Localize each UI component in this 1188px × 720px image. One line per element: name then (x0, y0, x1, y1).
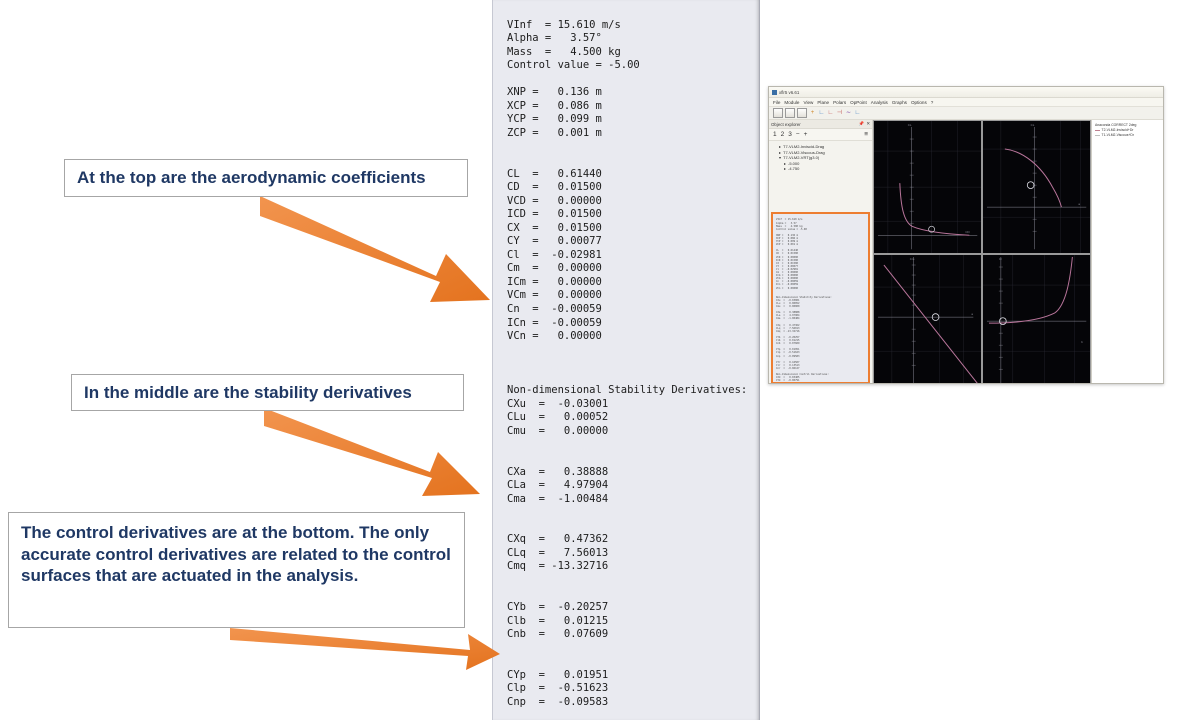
callout-text: The control derivatives are at the botto… (9, 513, 464, 587)
legend-item-label: T1-VLM2-Viscous+Dr (1102, 133, 1134, 138)
menu-item-file[interactable]: File (773, 100, 780, 105)
collapse-all-icon[interactable]: − (796, 131, 800, 138)
svg-text:a: a (971, 312, 973, 316)
window-body: Object explorer 📌 ✕ 1 2 3 − + ≡ ▸ T7-VLM… (769, 120, 1163, 384)
graph-bottom-right[interactable]: b Cl (983, 255, 1090, 384)
menu-item-polars[interactable]: Polars (833, 100, 846, 105)
polar-curve-icon[interactable]: ∟ (818, 109, 825, 117)
analysis-log-panel: VInf = 15.610 m/s Alpha = 3.57° Mass = 4… (492, 0, 760, 720)
chevron-down-icon: ▾ (779, 155, 781, 161)
callout-aerodynamic-coefficients: At the top are the aerodynamic coefficie… (64, 159, 468, 197)
menu-item-options[interactable]: Options (911, 100, 927, 105)
analysis-log-thumbnail-text: VInf = 15.610 m/s Alpha = 3.57 Mass = 4.… (773, 216, 868, 384)
legend-panel: Anaconda CORRECT 2deg T2-VLM2-Inviscid+D… (1091, 120, 1163, 384)
graph-settings-icon[interactable]: ∟ (854, 109, 861, 117)
object-explorer-header: Object explorer 📌 ✕ (769, 120, 872, 129)
graph-grid: CD CL (873, 120, 1091, 384)
object-explorer-panel[interactable]: Object explorer 📌 ✕ 1 2 3 − + ≡ ▸ T7-VLM… (769, 120, 873, 384)
arrow-to-stability-derivatives (262, 404, 492, 504)
svg-text:b: b (1081, 340, 1083, 344)
window-title: xflr5 v6.61 (779, 90, 799, 95)
graph-area: CD CL (873, 120, 1163, 384)
svg-text:a: a (1078, 202, 1080, 206)
define-analysis-icon[interactable]: + (809, 109, 816, 117)
callout-control-derivatives: The control derivatives are at the botto… (8, 512, 465, 628)
chevron-right-icon: ▸ (784, 166, 786, 172)
menu-item-help[interactable]: ? (931, 100, 934, 105)
window-titlebar: xflr5 v6.61 (769, 87, 1163, 98)
svg-text:Cm: Cm (910, 257, 915, 261)
analysis-log-text: VInf = 15.610 m/s Alpha = 3.57° Mass = 4… (507, 19, 747, 720)
new-file-icon[interactable] (773, 108, 783, 118)
save-file-icon[interactable] (797, 108, 807, 118)
callout-text: In the middle are the stability derivati… (72, 383, 412, 403)
legend-swatch-icon (1095, 135, 1100, 136)
expand-level-2-button[interactable]: 2 (781, 131, 785, 138)
tree-item-label: -4.750 (788, 166, 799, 172)
xflr5-application-window[interactable]: xflr5 v6.61 File Module View Plane Polar… (768, 86, 1164, 384)
svg-text:CD: CD (965, 230, 970, 234)
close-icon[interactable]: ✕ (866, 121, 870, 127)
expand-all-icon[interactable]: + (804, 131, 808, 138)
callout-text: At the top are the aerodynamic coefficie… (65, 168, 426, 188)
svg-text:Cl: Cl (999, 257, 1002, 261)
run-analysis-icon[interactable]: ∟ (827, 109, 834, 117)
svg-text:CL: CL (908, 123, 912, 127)
pin-icon[interactable]: 📌 (859, 121, 864, 127)
arrow-to-control-derivatives (228, 620, 508, 680)
object-explorer-title: Object explorer (771, 122, 801, 127)
tree-item[interactable]: ▸ -4.750 (775, 166, 870, 172)
graph-top-right[interactable]: a CL (983, 121, 1090, 253)
toolbar[interactable]: + ∟ ∟ ⊣ ∼ ∟ (769, 107, 1163, 120)
expand-level-3-button[interactable]: 3 (788, 131, 792, 138)
object-tree[interactable]: ▸ T7-VLM2-Inviscid-Drag ▸ T7-VLM2-Viscou… (769, 141, 872, 172)
graph-bottom-left[interactable]: a Cm (874, 255, 981, 384)
menu-item-graphs[interactable]: Graphs (892, 100, 907, 105)
object-explorer-toolbar[interactable]: 1 2 3 − + ≡ (769, 129, 872, 141)
expand-level-1-button[interactable]: 1 (773, 131, 777, 138)
graph-top-left[interactable]: CD CL (874, 121, 981, 253)
menu-item-view[interactable]: View (803, 100, 813, 105)
view-3d-icon[interactable]: ∼ (845, 109, 852, 117)
object-explorer-menu-icon[interactable]: ≡ (864, 131, 868, 138)
analysis-log-highlight-box: VInf = 15.610 m/s Alpha = 3.57 Mass = 4.… (771, 212, 870, 384)
menu-item-analysis[interactable]: Analysis (871, 100, 888, 105)
arrow-to-coefficients (258, 190, 508, 310)
callout-stability-derivatives: In the middle are the stability derivati… (71, 374, 464, 411)
menu-item-oppoint[interactable]: OpPoint (850, 100, 867, 105)
store-oppoint-icon[interactable]: ⊣ (836, 109, 843, 117)
open-file-icon[interactable] (785, 108, 795, 118)
menu-item-plane[interactable]: Plane (817, 100, 829, 105)
menu-item-module[interactable]: Module (784, 100, 799, 105)
legend-item[interactable]: T1-VLM2-Viscous+Dr (1095, 133, 1161, 138)
menu-bar[interactable]: File Module View Plane Polars OpPoint An… (769, 98, 1163, 107)
app-logo-icon (772, 90, 777, 95)
legend-swatch-icon (1095, 130, 1100, 131)
svg-text:CL: CL (1030, 123, 1034, 127)
